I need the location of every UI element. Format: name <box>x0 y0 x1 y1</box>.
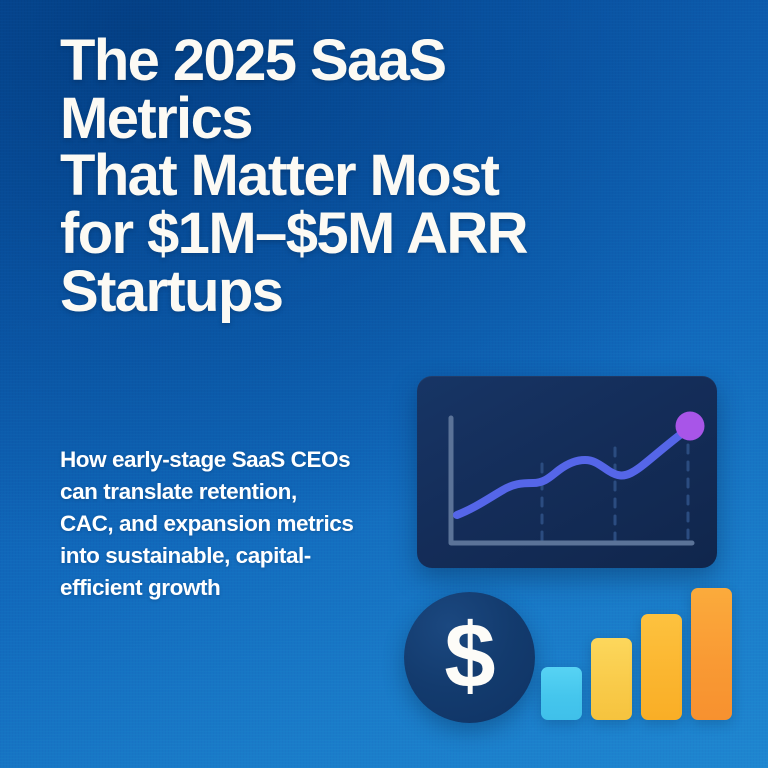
subtitle-line-4: into sustainable, capital- <box>60 540 412 572</box>
subtitle-line-5: efficient growth <box>60 572 412 604</box>
subtitle-line-3: CAC, and expansion metrics <box>60 508 412 540</box>
line-chart-card <box>417 376 717 568</box>
headline-line-3: That Matter Most <box>60 147 685 205</box>
bar-chart-bar-4 <box>691 588 732 720</box>
bar-chart <box>541 588 731 720</box>
subtitle-line-2: can translate retention, <box>60 476 412 508</box>
subtitle-line-1: How early-stage SaaS CEOs <box>60 444 412 476</box>
bar-chart-bar-2 <box>591 638 632 720</box>
chart-trend-line <box>457 428 689 515</box>
headline-line-5: Startups <box>60 263 685 321</box>
headline-line-4: for $1M–$5M ARR <box>60 205 685 263</box>
chart-endpoint-dot <box>676 412 705 441</box>
poster-canvas: The 2025 SaaS Metrics That Matter Most f… <box>0 0 768 768</box>
dollar-badge: $ <box>404 592 535 723</box>
line-chart-svg <box>417 376 717 568</box>
dollar-sign-icon: $ <box>444 610 494 702</box>
bar-chart-bar-1 <box>541 667 582 720</box>
headline-line-1: The 2025 SaaS <box>60 32 685 90</box>
subtitle: How early-stage SaaS CEOs can translate … <box>60 444 412 604</box>
bar-chart-bar-3 <box>641 614 682 720</box>
headline: The 2025 SaaS Metrics That Matter Most f… <box>60 32 685 321</box>
chart-axes <box>451 418 692 543</box>
headline-line-2: Metrics <box>60 90 685 148</box>
